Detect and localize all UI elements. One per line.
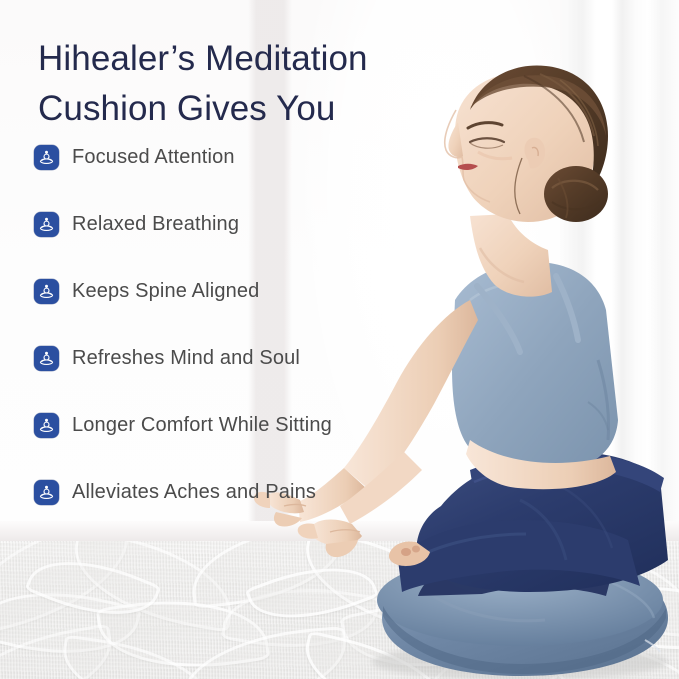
feature-list-item: Longer Comfort While Sitting [34, 411, 414, 439]
feature-list-item-label: Focused Attention [72, 145, 235, 169]
feature-list-item: Alleviates Aches and Pains [34, 478, 414, 506]
feature-list-item-label: Keeps Spine Aligned [72, 279, 259, 303]
page-title: Hihealer’s Meditation Cushion Gives You [38, 34, 458, 134]
feature-list-item: Keeps Spine Aligned [34, 277, 414, 305]
feature-list-item-label: Refreshes Mind and Soul [72, 346, 300, 370]
feature-list-item-label: Longer Comfort While Sitting [72, 413, 332, 437]
feature-list-item: Focused Attention [34, 143, 414, 171]
meditation-lotus-icon [34, 145, 59, 170]
meditation-lotus-icon [34, 279, 59, 304]
meditation-lotus-icon [34, 413, 59, 438]
feature-list-item: Relaxed Breathing [34, 210, 414, 238]
product-feature-image: Hihealer’s Meditation Cushion Gives You … [0, 0, 679, 679]
feature-list-item-label: Alleviates Aches and Pains [72, 480, 316, 504]
feature-list-item-label: Relaxed Breathing [72, 212, 239, 236]
feature-list-item: Refreshes Mind and Soul [34, 344, 414, 372]
head-profile [445, 65, 608, 222]
feature-benefit-list: Focused Attention Relaxed Breathing Keep… [34, 143, 414, 545]
meditation-lotus-icon [34, 346, 59, 371]
meditation-lotus-icon [34, 480, 59, 505]
meditation-lotus-icon [34, 212, 59, 237]
